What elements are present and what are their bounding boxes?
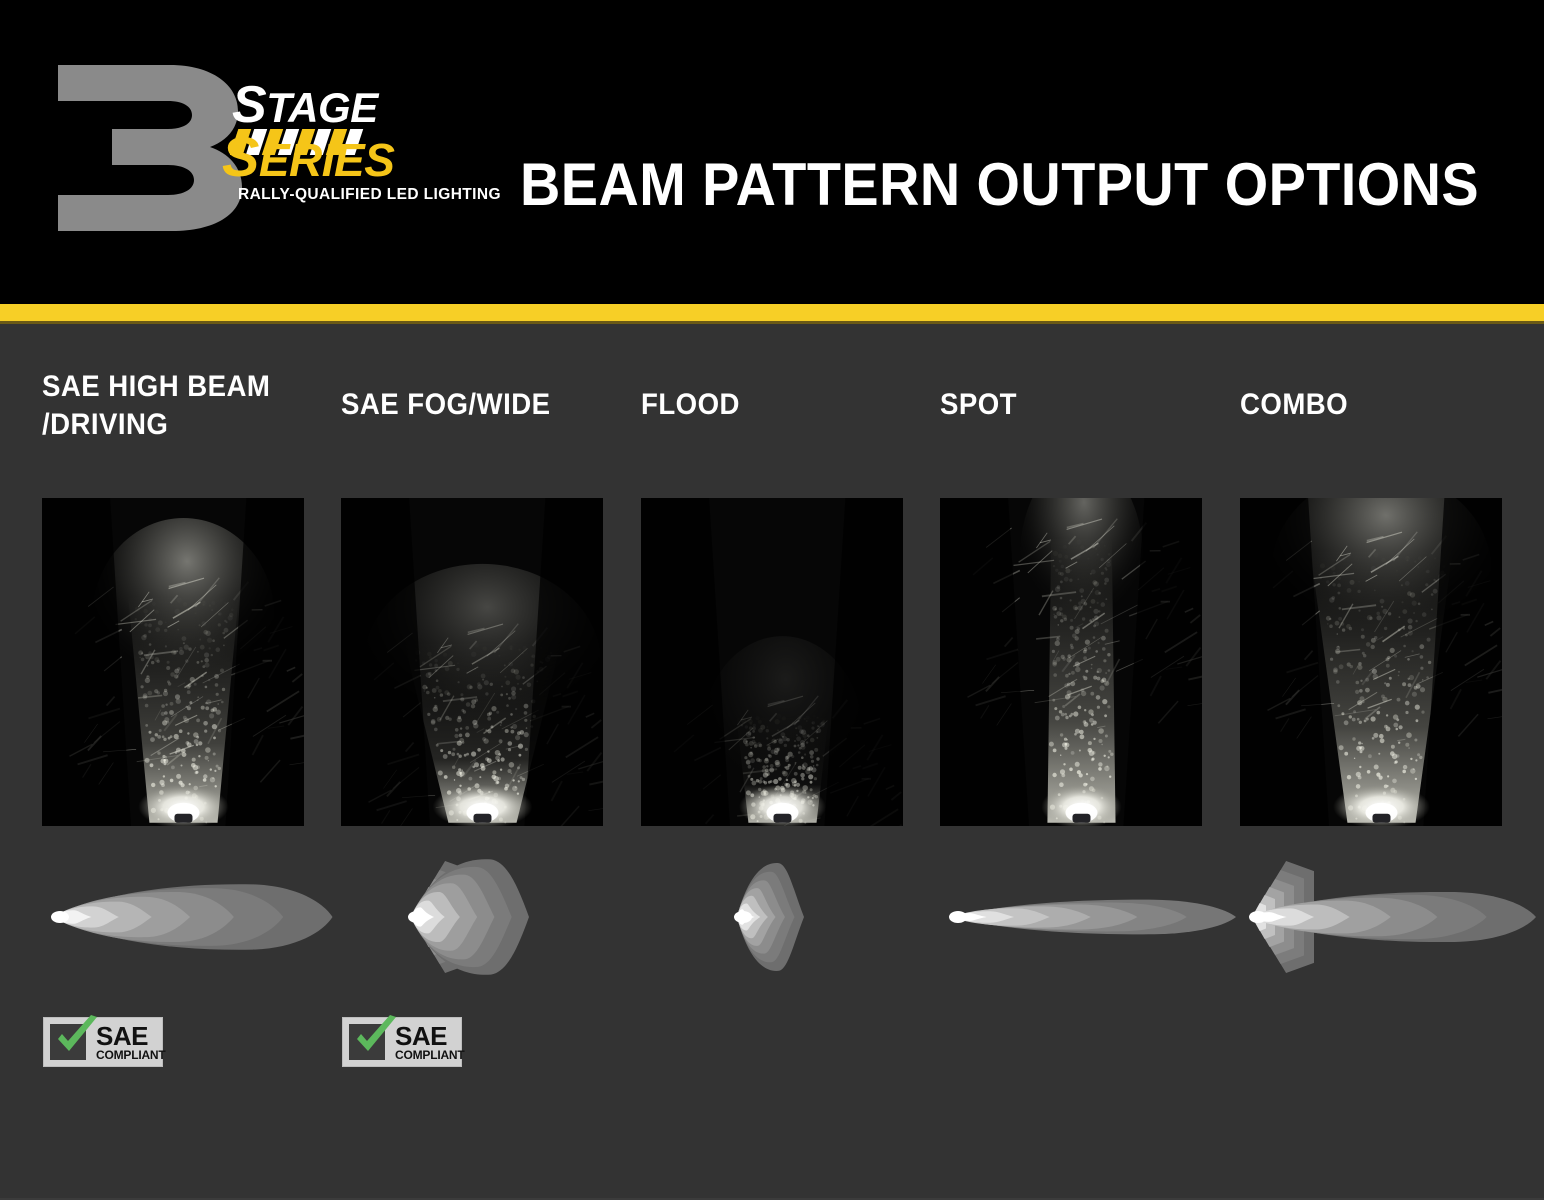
photo-image xyxy=(940,498,1202,826)
header-bar: STAGE SERIES RALLY-QUALIFIED LED LIGHTIN… xyxy=(0,0,1544,304)
badge-compliant-text: COMPLIANT xyxy=(395,1049,465,1061)
logo-series-text: SERIES xyxy=(222,129,394,185)
beam-diagram-flood xyxy=(641,852,941,982)
column-label-line1: SPOT xyxy=(940,386,1216,424)
sae-compliant-badge: SAECOMPLIANT xyxy=(44,1018,162,1066)
beam-photo-fog-wide xyxy=(341,498,603,826)
beam-photo-flood xyxy=(641,498,903,826)
column-label-line1: SAE FOG/WIDE xyxy=(341,386,617,424)
beam-diagram-spot xyxy=(940,852,1240,982)
column-label: SAE FOG/WIDE xyxy=(341,386,617,424)
beam-column-spot: SPOT xyxy=(940,324,1240,1200)
badge-sae-text: SAE xyxy=(395,1023,447,1049)
green-check-icon xyxy=(353,1015,401,1061)
logo-wordmark: STAGE SERIES RALLY-QUALIFIED LED LIGHTIN… xyxy=(204,79,494,229)
column-label-line1: FLOOD xyxy=(641,386,917,424)
column-label-line2: /DRIVING xyxy=(42,406,318,444)
beam-column-flood: FLOOD xyxy=(641,324,941,1200)
column-label-line1: COMBO xyxy=(1240,386,1516,424)
beam-column-fog-wide: SAE FOG/WIDE SAECOMPLIANT xyxy=(341,324,641,1200)
logo-stage-text: STAGE xyxy=(232,79,378,131)
beam-photo-spot xyxy=(940,498,1202,826)
logo-stage-rest: TAGE xyxy=(266,84,378,131)
photo-image xyxy=(42,498,304,826)
sae-compliant-badge: SAECOMPLIANT xyxy=(343,1018,461,1066)
beam-photo-driving xyxy=(42,498,304,826)
logo-tagline: RALLY-QUALIFIED LED LIGHTING xyxy=(238,186,501,204)
column-label: FLOOD xyxy=(641,386,917,424)
column-label: SAE HIGH BEAM/DRIVING xyxy=(42,368,318,444)
column-label-line1: SAE HIGH BEAM xyxy=(42,368,318,406)
stage-series-logo: STAGE SERIES RALLY-QUALIFIED LED LIGHTIN… xyxy=(52,55,482,235)
logo-series-rest: ERIES xyxy=(259,134,395,186)
beam-photo-combo xyxy=(1240,498,1502,826)
beam-diagram-fog-wide xyxy=(341,852,641,982)
badge-compliant-text: COMPLIANT xyxy=(96,1049,166,1061)
beam-diagram-combo xyxy=(1240,852,1540,982)
beam-diagram-driving xyxy=(42,852,342,982)
badge-sae-text: SAE xyxy=(96,1023,148,1049)
yellow-divider-bar xyxy=(0,304,1544,321)
photo-image xyxy=(641,498,903,826)
logo-series-initial: S xyxy=(222,125,259,188)
column-label: SPOT xyxy=(940,386,1216,424)
photo-image xyxy=(341,498,603,826)
photo-image xyxy=(1240,498,1502,826)
column-label: COMBO xyxy=(1240,386,1516,424)
beam-pattern-infographic: STAGE SERIES RALLY-QUALIFIED LED LIGHTIN… xyxy=(0,0,1544,1200)
green-check-icon xyxy=(54,1015,102,1061)
page-title: BEAM PATTERN OUTPUT OPTIONS xyxy=(520,152,1441,218)
columns-area: SAE HIGH BEAM/DRIVING SAECOMPLIANTSAE FO… xyxy=(0,324,1544,1200)
beam-column-combo: COMBO xyxy=(1240,324,1540,1200)
beam-column-driving: SAE HIGH BEAM/DRIVING SAECOMPLIANT xyxy=(42,324,342,1200)
